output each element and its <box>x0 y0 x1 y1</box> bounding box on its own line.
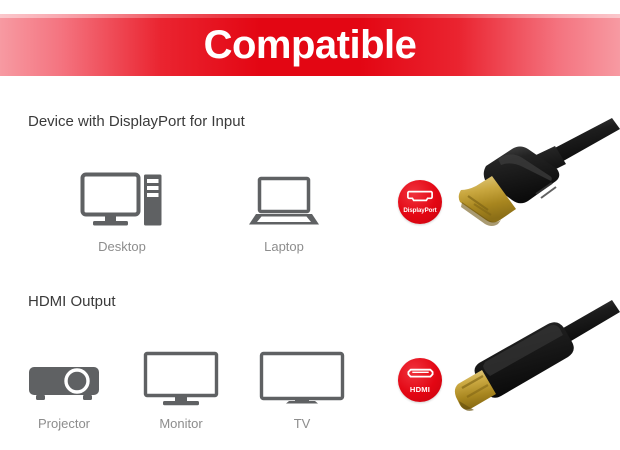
badge-label: DisplayPort <box>403 208 436 214</box>
hdmi-plug-icon <box>452 300 620 445</box>
device-label: Desktop <box>62 239 182 254</box>
device-label: TV <box>244 416 360 431</box>
page-title: Compatible <box>204 25 417 65</box>
badge-hdmi: HDMI <box>398 358 442 402</box>
device-label: Projector <box>12 416 116 431</box>
projector-icon <box>12 345 116 407</box>
badge-displayport: DisplayPort <box>398 180 442 224</box>
section-heading-input: Device with DisplayPort for Input <box>28 113 245 130</box>
displayport-plug-icon <box>452 118 620 249</box>
device-tv: TV <box>244 345 360 431</box>
section-heading-output: HDMI Output <box>28 293 116 310</box>
desktop-icon <box>62 168 182 230</box>
monitor-icon <box>126 345 236 407</box>
device-laptop: Laptop <box>224 168 344 254</box>
device-desktop: Desktop <box>62 168 182 254</box>
header-banner: Compatible <box>0 14 620 76</box>
displayport-port-icon <box>407 189 433 207</box>
device-projector: Projector <box>12 345 116 431</box>
hdmi-port-icon <box>407 367 434 385</box>
tv-icon <box>244 345 360 407</box>
badge-label: HDMI <box>410 386 430 394</box>
device-label: Laptop <box>224 239 344 254</box>
device-monitor: Monitor <box>126 345 236 431</box>
laptop-icon <box>224 168 344 230</box>
device-label: Monitor <box>126 416 236 431</box>
